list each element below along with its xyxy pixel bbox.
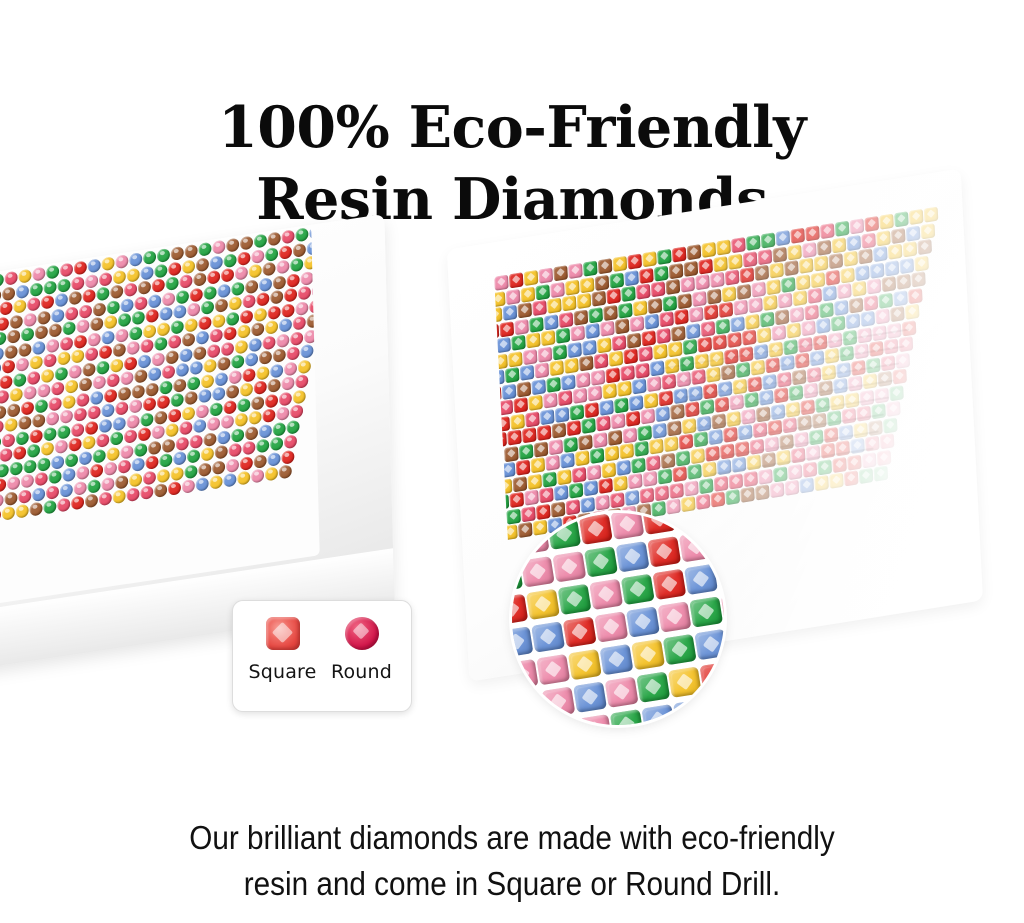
closeup-gem [605,677,639,708]
drill-bead [29,428,42,443]
drill-bead [254,453,267,468]
drill-bead [38,456,51,471]
closeup-gem [658,601,692,632]
drill-bead [672,246,687,262]
drill-bead [229,442,242,457]
drill-bead [121,371,134,386]
drill-bead [43,353,56,368]
drill-bead [817,459,832,475]
drill-bead [229,296,242,311]
drill-bead [891,227,906,243]
drill-bead [140,265,153,280]
drill-bead [129,399,142,414]
drill-bead [168,334,181,349]
drill-bead [698,258,713,274]
drill-bead [580,496,595,512]
drill-bead [648,297,663,313]
drill-bead [903,241,918,257]
drill-bead [24,385,37,400]
drill-bead [173,451,186,466]
drill-bead [763,295,778,311]
closeup-gem [512,626,533,657]
drill-bead [692,290,707,306]
drill-bead [0,434,1,449]
drill-bead [99,491,112,506]
drill-bead [0,478,6,493]
closeup-gem [700,661,724,692]
drill-bead [570,325,585,341]
drill-bead [218,429,231,444]
drill-bead [43,426,56,441]
drill-bead [7,476,20,491]
drill-bead [896,274,911,290]
drill-bead [761,232,776,248]
drill-bead [281,303,294,318]
drill-bead [770,482,785,498]
drill-bead [614,397,629,413]
legend-item-square[interactable]: Square [246,617,320,683]
drill-bead [860,389,875,405]
drill-bead [126,487,139,502]
drill-bead [35,398,48,413]
closeup-gem [512,659,539,690]
drill-bead [140,485,153,500]
drill-bead [570,404,585,420]
drill-bead [845,392,860,408]
drill-bead [631,457,646,473]
drill-bead [566,420,581,436]
drill-bead [93,301,106,316]
closeup-gem [710,526,724,557]
drill-bead [87,405,100,420]
closeup-gem [636,671,670,702]
drill-bead [833,378,848,394]
drill-bead [218,283,231,298]
drill-bead [231,427,244,442]
drill-bead [592,290,607,306]
drill-bead [281,229,294,244]
drill-bead [182,479,195,494]
drill-bead [658,468,673,484]
drill-bead [654,265,669,281]
drill-bead [82,435,95,450]
drill-bead [880,433,895,449]
drill-bead [773,466,788,482]
drill-bead [195,403,208,418]
drill-bead [581,418,596,434]
drill-bead [699,477,714,493]
drill-bead [567,341,582,357]
closeup-gem [674,513,708,530]
tray-bead-area [0,227,320,614]
drill-bead [160,380,173,395]
drill-bead [684,480,699,496]
drill-bead [874,466,889,482]
drill-bead [46,338,59,353]
drill-bead [843,251,858,267]
drill-bead [543,392,558,408]
drill-bead [85,420,98,435]
drill-bead [522,427,537,443]
drill-bead [151,425,164,440]
drill-bead [132,384,145,399]
drill-bead [516,459,531,475]
drill-bead [613,475,628,491]
drill-bead [496,337,511,353]
drill-bead [104,461,117,476]
drill-bead [27,297,40,312]
drill-bead [595,274,610,290]
drill-bead [129,472,142,487]
square-drill-closeup [512,513,724,725]
closeup-gem [552,551,586,582]
drill-bead [2,506,15,521]
drill-bead [262,408,275,423]
drill-bead [905,304,920,320]
drill-bead [555,406,570,422]
drill-bead [240,309,253,324]
drill-bead [619,443,634,459]
drill-bead [582,339,597,355]
drill-bead [57,351,70,366]
closeup-gem [652,569,686,600]
drill-bead [545,455,560,471]
drill-bead [49,469,62,484]
drill-bead [655,406,670,422]
drill-bead [858,248,873,264]
drill-bead [132,310,145,325]
drill-bead [908,287,923,303]
drill-bead [882,276,897,292]
drill-bead [740,487,755,503]
drill-bead [811,271,826,287]
drill-bead [223,253,236,268]
drill-bead [93,375,106,390]
drill-bead [844,470,859,486]
drill-bead [115,327,128,342]
drill-bead [503,305,518,321]
drill-bead [679,434,694,450]
drill-bead [251,249,264,264]
drill-bead [526,332,541,348]
closeup-gem [642,513,676,535]
drill-bead [793,290,808,306]
drill-bead [137,427,150,442]
drill-bead [616,459,631,475]
drill-bead [126,340,139,355]
drill-bead [245,279,258,294]
drill-bead [16,284,29,299]
drill-bead [606,288,621,304]
drill-bead [820,223,835,239]
drill-bead [184,317,197,332]
drill-bead [284,434,297,449]
drill-bead [538,346,553,362]
drill-bead [731,237,746,253]
drill-bead [52,381,65,396]
drill-type-legend-card: Square Round [232,600,412,712]
drill-bead [190,360,203,375]
drill-bead [287,272,300,287]
drill-bead [618,302,633,318]
drill-bead [643,471,658,487]
drill-bead [115,474,128,489]
drill-bead [722,286,737,302]
drill-bead [176,436,189,451]
drill-bead [168,261,181,276]
drill-bead [769,262,784,278]
drill-bead [609,272,624,288]
drill-bead [499,399,514,415]
drill-bead [751,281,766,297]
drill-bead [40,441,53,456]
drill-bead [523,348,538,364]
product-marketing-poster: 100% Eco-Friendly Resin Diamonds Square … [0,0,1024,923]
drill-bead [13,299,26,314]
drill-bead [259,277,272,292]
drill-bead [54,366,67,381]
drill-bead [74,260,87,275]
drill-bead [10,461,23,476]
drill-bead [35,325,48,340]
drill-bead [143,323,156,338]
drill-bead [502,383,517,399]
drill-bead [190,287,203,302]
drill-bead [4,491,17,506]
closeup-gem [689,596,723,627]
drill-bead [757,327,772,343]
drill-bead [215,445,228,460]
drill-bead [603,304,618,320]
drill-bead [525,411,540,427]
drill-bead [508,351,523,367]
drill-bead [96,433,109,448]
drill-bead [674,309,689,325]
drill-bead [74,334,87,349]
drill-bead [71,495,84,510]
drill-bead [615,318,630,334]
drill-bead [7,402,20,417]
drill-bead [126,267,139,282]
drill-bead [509,492,524,508]
drill-bead [847,234,862,250]
drill-bead [672,466,687,482]
drill-bead [118,386,131,401]
drill-bead [63,321,76,336]
drill-bead [237,397,250,412]
drill-bead [664,436,679,452]
drill-bead [193,419,206,434]
drill-bead [229,369,242,384]
drill-bead [115,254,128,269]
drill-bead [198,242,211,257]
drill-bead [135,295,148,310]
closeup-gem [516,524,550,555]
drill-bead [711,491,726,507]
drill-bead [635,362,650,378]
drill-bead [149,293,162,308]
drill-bead [558,390,573,406]
drill-bead [171,466,184,481]
drill-bead [234,412,247,427]
drill-bead [207,270,220,285]
drill-bead [815,396,830,412]
drill-bead [43,280,56,295]
drill-bead [168,408,181,423]
drill-bead [649,438,664,454]
drill-bead [860,311,875,327]
drill-bead [704,304,719,320]
closeup-gem [563,616,597,647]
drill-bead [196,257,209,272]
drill-bead [240,236,253,251]
drill-bead [879,214,894,230]
drill-bead [237,471,250,486]
drill-bead [564,358,579,374]
closeup-gem [558,584,592,615]
drill-bead [96,360,109,375]
drill-bead [113,269,126,284]
drill-bead [528,395,543,411]
drill-bead [628,473,643,489]
drill-bead [85,273,98,288]
drill-bead [878,292,893,308]
closeup-gem-grid [512,513,724,725]
drill-bead [831,315,846,331]
drill-bead [883,417,898,433]
drill-bead [620,364,635,380]
drill-bead [686,323,701,339]
drill-bead [251,468,264,483]
drill-bead [298,359,311,374]
drill-bead [549,360,564,376]
drill-bead [800,477,815,493]
drill-bead [68,437,81,452]
drill-bead [40,368,53,383]
drill-bead [123,429,136,444]
drill-bead [789,385,804,401]
drill-bead [273,275,286,290]
drill-bead [885,260,900,276]
drill-bead [680,276,695,292]
drill-bead [646,455,661,471]
drill-bead [676,450,691,466]
drill-bead [870,262,885,278]
drill-bead [612,334,627,350]
drill-bead [610,492,625,508]
drill-bead [121,444,134,459]
drill-bead [193,272,206,287]
drill-bead [118,312,131,327]
drill-bead [861,232,876,248]
closeup-gem [641,704,675,725]
drill-bead [563,436,578,452]
drill-bead [74,407,87,422]
drill-bead [625,489,640,505]
drill-bead [60,409,73,424]
drill-bead [204,285,217,300]
product-description: Our brilliant diamonds are made with eco… [98,815,926,907]
drill-bead [85,493,98,508]
drill-bead [234,266,247,281]
drill-bead [568,263,583,279]
drill-bead [0,448,12,463]
drill-bead [549,439,564,455]
drill-bead [76,392,89,407]
drill-bead [27,443,40,458]
drill-bead [600,321,615,337]
drill-bead [182,406,195,421]
drill-bead [598,478,613,494]
drill-bead [818,380,833,396]
drill-bead [689,306,704,322]
drill-bead [143,250,156,265]
drill-bead [890,306,905,322]
drill-bead [290,331,303,346]
legend-label-square: Square [248,661,316,683]
drill-bead [240,455,253,470]
closeup-gem [705,694,724,725]
drill-bead [531,378,546,394]
drill-bead [18,489,31,504]
drill-bead [251,395,264,410]
drill-bead [267,378,280,393]
drill-bead [124,282,137,297]
legend-item-round[interactable]: Round [325,617,399,683]
drill-bead [270,290,283,305]
drill-bead [223,326,236,341]
drill-bead [237,324,250,339]
drill-bead [510,413,525,429]
closeup-gem [668,666,702,697]
closeup-gem [684,564,718,595]
drill-bead [262,335,275,350]
drill-bead [16,357,29,372]
drill-bead [561,374,576,390]
drill-bead [259,350,272,365]
drill-bead [719,302,734,318]
drill-bead [43,500,56,515]
drill-bead [837,283,852,299]
closeup-gem [610,709,644,725]
drill-bead [284,361,297,376]
drill-bead [683,339,698,355]
drill-bead [611,413,626,429]
drill-bead [57,278,70,293]
drill-bead [729,394,744,410]
drill-bead [76,319,89,334]
drill-bead [725,269,740,285]
drill-bead [151,278,164,293]
drill-bead [18,269,31,284]
drill-bead [790,228,805,244]
drill-bead [0,404,7,419]
drill-bead [2,286,15,301]
drill-bead [832,456,847,472]
round-drill-gem-icon [345,617,379,650]
drill-bead [0,419,4,434]
drill-bead [279,318,292,333]
drill-bead [608,429,623,445]
closeup-gem [626,606,660,637]
drill-bead [60,336,73,351]
drill-bead [165,276,178,291]
drill-bead [265,246,278,261]
drill-bead [287,346,300,361]
drill-bead [2,432,15,447]
drill-bead [107,299,120,314]
drill-bead [745,313,760,329]
